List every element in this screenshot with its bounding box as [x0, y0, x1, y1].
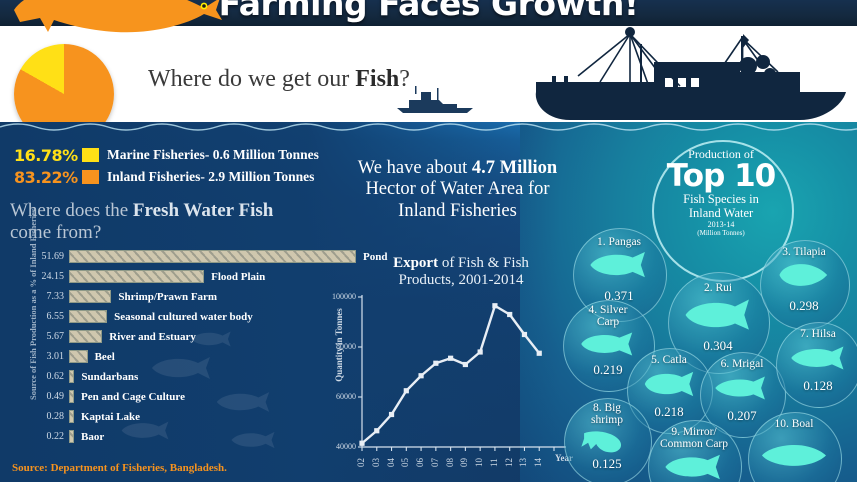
pie-legend: 16.78% Marine Fisheries- 0.6 Million Ton… — [14, 144, 344, 188]
freshwater-heading-emphasis: Fresh Water Fish — [133, 200, 273, 221]
bar-fill — [69, 370, 74, 383]
bubble-species-name: 2. Rui — [668, 282, 768, 294]
freshwater-heading-part2: come from? — [10, 222, 101, 243]
top10-line3b: Inland Water — [652, 206, 790, 220]
bar-fill — [69, 330, 102, 343]
legend-row-inland: 83.22% Inland Fisheries- 2.9 Million Ton… — [14, 166, 344, 188]
bar-fill — [69, 430, 74, 443]
bar-value: 7.33 — [30, 291, 64, 302]
fish-species-bubble[interactable]: 10. Boal — [748, 412, 840, 482]
bar-label: Baor — [81, 431, 104, 443]
legend-swatch-marine-icon — [82, 148, 99, 162]
fish-species-bubble[interactable]: 3. Tilapia0.298 — [760, 240, 848, 328]
legend-percent-marine: 16.78% — [14, 146, 80, 165]
bar-fill — [69, 350, 88, 363]
bubble-species-value: 0.298 — [760, 298, 848, 314]
bar-row: 5.67River and Estuary — [30, 330, 196, 343]
bar-label: Pen and Cage Culture — [81, 391, 185, 403]
fish-species-bubble[interactable]: 9. Mirror/Common Carp — [648, 420, 740, 482]
bar-label: Seasonal cultured water body — [114, 311, 253, 323]
bubble-species-name: 9. Mirror/Common Carp — [648, 426, 740, 450]
bar-value: 0.28 — [30, 411, 64, 422]
bar-value: 0.62 — [30, 371, 64, 382]
bar-row: 6.55Seasonal cultured water body — [30, 310, 253, 323]
bar-value: 6.55 — [30, 311, 64, 322]
bar-label: Kaptai Lake — [81, 411, 140, 423]
bar-value: 3.01 — [30, 351, 64, 362]
shrimp-icon — [576, 424, 638, 456]
legend-label-marine: Marine Fisheries- 0.6 Million Tonnes — [107, 147, 319, 163]
small-boat-icon — [395, 82, 475, 114]
infographic-root: Farming Faces Growth! Where do we get ou… — [0, 0, 857, 482]
legend-label-inland: Inland Fisheries- 2.9 Million Tonnes — [107, 169, 314, 185]
orange-fish-icon — [8, 0, 238, 42]
bar-row: 0.28Kaptai Lake — [30, 410, 140, 423]
bar-fill — [69, 390, 74, 403]
bubble-species-name: 4. SilverCarp — [563, 304, 653, 328]
bar-row: 0.62Sundarbans — [30, 370, 138, 383]
fish-generic-icon — [586, 250, 652, 280]
hero-question: Where do we get our Fish? — [148, 66, 410, 93]
bubble-species-name: 10. Boal — [748, 418, 840, 430]
source-note: Source: Department of Fisheries, Banglad… — [12, 462, 227, 474]
bar-fill — [69, 310, 107, 323]
bar-fill — [69, 290, 111, 303]
hero-question-emphasis: Fish — [355, 66, 399, 92]
bar-value: 51.69 — [30, 251, 64, 262]
fish-catla-icon — [638, 370, 700, 398]
bar-row: 24.15Flood Plain — [30, 270, 265, 283]
fish-species-bubble[interactable]: 8. Bigshrimp0.125 — [564, 398, 650, 482]
fishing-trawler-icon — [530, 26, 850, 122]
top10-title-block: Production of Top 10 Fish Species in Inl… — [652, 148, 790, 237]
bar-label: River and Estuary — [109, 331, 196, 343]
fish-mrigal-icon — [712, 374, 772, 402]
water-area-part3: Inland Fisheries — [398, 201, 517, 221]
fish-species-bubble[interactable]: 7. Hilsa0.128 — [776, 322, 857, 406]
fish-hilsa-icon — [787, 344, 849, 372]
fish-carp-icon — [661, 452, 727, 482]
top10-line3a: Fish Species in — [652, 192, 790, 206]
water-area-emphasis: 4.7 Million — [472, 158, 557, 178]
line-chart-plot — [316, 255, 571, 482]
bar-value: 24.15 — [30, 271, 64, 282]
bar-fill — [69, 270, 204, 283]
bar-fill — [69, 250, 356, 263]
top10-units: (Million Tonnes) — [652, 229, 790, 237]
legend-swatch-inland-icon — [82, 170, 99, 184]
hero-question-part1: Where do we get our — [148, 66, 355, 92]
wave-line — [0, 118, 857, 132]
export-line-chart: Export of Fish & Fish Products, 2001-201… — [316, 255, 571, 482]
fish-rui-icon — [681, 298, 755, 332]
bar-row: 3.01Beel — [30, 350, 115, 363]
bar-value: 0.49 — [30, 391, 64, 402]
bubble-species-value: 0.128 — [776, 378, 857, 394]
bar-value: 5.67 — [30, 331, 64, 342]
bar-label: Shrimp/Prawn Farm — [118, 291, 217, 303]
water-area-part1: We have about — [358, 158, 472, 178]
bubble-species-name: 6. Mrigal — [700, 358, 784, 370]
fish-tilapia-icon — [772, 260, 836, 290]
bubble-species-name: 5. Catla — [627, 354, 711, 366]
bubble-species-name: 8. Bigshrimp — [564, 402, 650, 426]
freshwater-heading: Where does the Fresh Water Fish come fro… — [10, 200, 330, 245]
bubble-species-name: 7. Hilsa — [776, 328, 857, 340]
water-area-headline: We have about 4.7 Million Hector of Wate… — [350, 158, 565, 222]
bar-row: 0.22Baor — [30, 430, 104, 443]
bubble-species-name: 1. Pangas — [573, 236, 665, 248]
legend-percent-inland: 83.22% — [14, 168, 80, 187]
bar-label: Beel — [95, 351, 115, 363]
water-area-part2: Hector of Water Area for — [365, 179, 549, 199]
bar-row: 7.33Shrimp/Prawn Farm — [30, 290, 217, 303]
bar-label: Sundarbans — [81, 371, 138, 383]
bar-value: 0.22 — [30, 431, 64, 442]
bar-row: 0.49Pen and Cage Culture — [30, 390, 185, 403]
top10-year: 2013-14 — [652, 220, 790, 229]
bar-label: Flood Plain — [211, 271, 265, 283]
fish-boal-icon — [759, 438, 829, 470]
top10-line2: Top 10 — [652, 161, 790, 192]
bubble-species-name: 3. Tilapia — [760, 246, 848, 258]
bar-fill — [69, 410, 74, 423]
bubble-species-value: 0.125 — [564, 456, 650, 472]
fish-source-bar-chart: Source of Fish Production as a % of Inla… — [8, 250, 348, 450]
legend-row-marine: 16.78% Marine Fisheries- 0.6 Million Ton… — [14, 144, 344, 166]
